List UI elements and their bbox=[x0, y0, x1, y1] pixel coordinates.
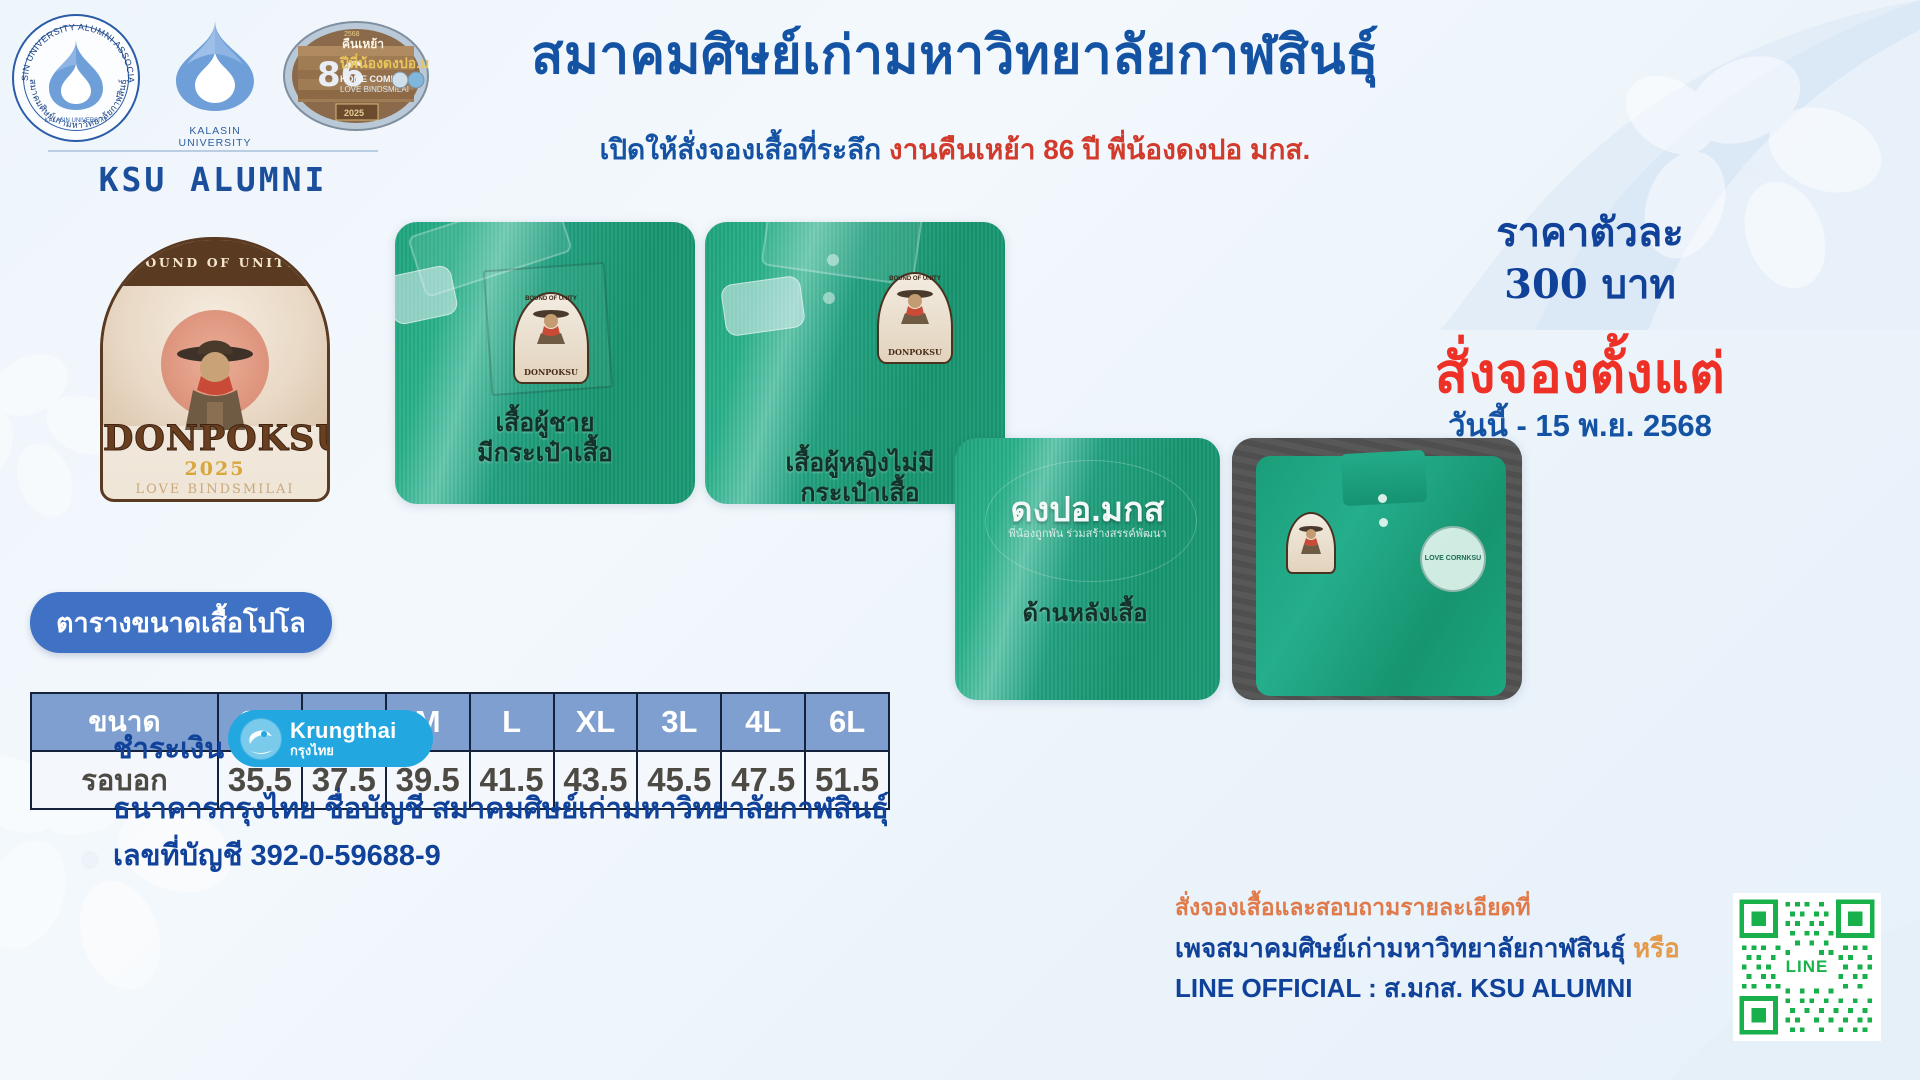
bank-account-name: ธนาคารกรุงไทย ชื่อบัญชี สมาคมศิษย์เก่ามห… bbox=[113, 785, 889, 831]
size-header-6l: 6L bbox=[805, 693, 889, 751]
patch-arc-text: BOUND OF UNITY bbox=[879, 276, 951, 282]
unity-arc-band: BOUND OF UNITY bbox=[103, 240, 327, 286]
back-print-sub: พี่น้องถูกพัน ร่วมสร้างสรรค์พัฒนา bbox=[955, 524, 1220, 542]
unity-shield: BOUND OF UNITY DONPOKSU 2025 LOVE BINDSM… bbox=[100, 237, 330, 502]
patch-cowboy-icon bbox=[879, 282, 951, 324]
contact-line-2: เพจสมาคมศิษย์เก่ามหาวิทยาลัยกาฬสินธุ์ หร… bbox=[1175, 928, 1680, 969]
header-divider bbox=[48, 150, 378, 152]
page-subtitle: เปิดให้สั่งจองเสื้อที่ระลึก งานคืนเหย้า … bbox=[440, 134, 1470, 166]
droplet-icon bbox=[165, 18, 265, 118]
size-header-3l: 3L bbox=[637, 693, 721, 751]
mens-shirt-caption: เสื้อผู้ชาย มีกระเป๋าเสื้อ bbox=[430, 408, 660, 468]
alumni-wordmark: KSU ALUMNI bbox=[48, 160, 378, 199]
homecoming-86-badge: 86 2568 คืนเหย้า ปีพี่น้องดงปอ.มกส HOME … bbox=[282, 20, 430, 132]
size-header-xl: XL bbox=[554, 693, 638, 751]
womens-shirt-caption: เสื้อผู้หญิงไม่มี กระเป๋าเสื้อ bbox=[730, 448, 990, 508]
payment-label: ชำระเงิน bbox=[113, 725, 224, 771]
university-caption: KALASIN UNIVERSITY bbox=[160, 125, 270, 149]
subtitle-blue-text: เปิดให้สั่งจองเสื้อที่ระลึก bbox=[600, 134, 881, 165]
contact-page-name: เพจสมาคมศิษย์เก่ามหาวิทยาลัยกาฬสินธุ์ bbox=[1175, 933, 1626, 963]
qr-line-label: LINE bbox=[1783, 956, 1832, 978]
krungthai-mark-icon bbox=[240, 718, 282, 760]
patch-name: DONPOKSU bbox=[515, 367, 587, 377]
unity-name: DONPOKSU bbox=[103, 418, 327, 459]
kalasin-university-logo: KALASIN UNIVERSITY bbox=[160, 18, 270, 143]
donpoksu-unity-logo: BOUND OF UNITY DONPOKSU 2025 LOVE BINDSM… bbox=[100, 237, 330, 502]
subtitle-red-text: งานคืนเหย้า 86 ปี พี่น้องดงปอ มกส. bbox=[889, 134, 1310, 165]
unity-year: 2025 bbox=[103, 458, 327, 480]
unity-scene bbox=[103, 286, 327, 426]
photo-folded-shirt: LOVE CORNKSU bbox=[1232, 438, 1522, 700]
mens-caption-line2: มีกระเป๋าเสื้อ bbox=[430, 438, 660, 468]
mens-caption-line1: เสื้อผู้ชาย bbox=[430, 408, 660, 438]
size-header-4l: 4L bbox=[721, 693, 805, 751]
krungthai-bank-logo: Krungthai กรุงไทย bbox=[228, 710, 433, 767]
badge-thai-main: ปีพี่น้องดงปอ.มกส bbox=[339, 53, 430, 71]
photo-shirt-back: ดงปอ.มกส พี่น้องถูกพัน ร่วมสร้างสรรค์พัฒ… bbox=[955, 438, 1220, 700]
patch-cowboy-icon bbox=[515, 302, 587, 344]
patch-name: DONPOKSU bbox=[879, 347, 951, 357]
back-caption-text: ด้านหลังเสื้อ bbox=[985, 600, 1185, 629]
alumni-association-seal: KALASIN UNIVERSITY ALUMNI ASSOCIATION สม… bbox=[12, 14, 140, 142]
contact-or-text: หรือ bbox=[1633, 933, 1680, 963]
bank-account-number: เลขที่บัญชี 392-0-59688-9 bbox=[113, 832, 441, 878]
donpoksu-embroidery-patch: BOUND OF UNITY DONPOKSU bbox=[513, 292, 589, 384]
krungthai-name-th: กรุงไทย bbox=[290, 744, 397, 757]
shirt-button bbox=[1379, 518, 1388, 527]
size-table-badge: ตารางขนาดเสื้อโปโล bbox=[30, 592, 332, 653]
unity-arc-text: BOUND OF UNITY bbox=[103, 240, 327, 286]
chest-circle-logo: LOVE CORNKSU bbox=[1420, 526, 1486, 592]
order-date: วันนี้ - 15 พ.ย. 2568 bbox=[1300, 400, 1860, 450]
price-amount: 300 บาท bbox=[1330, 252, 1850, 316]
size-header-l: L bbox=[470, 693, 554, 751]
womens-caption-line1: เสื้อผู้หญิงไม่มี bbox=[730, 448, 990, 478]
sleeve-86-badge bbox=[720, 275, 806, 338]
shirt-button bbox=[1378, 494, 1387, 503]
badge-thai-top: คืนเหย้า bbox=[342, 37, 384, 51]
krungthai-name-en: Krungthai bbox=[290, 720, 397, 742]
donpoksu-embroidery-patch bbox=[1286, 512, 1336, 574]
seal-caption: KALASIN UNIVERSITY bbox=[14, 118, 138, 124]
chest-logo-text: LOVE CORNKSU bbox=[1425, 555, 1481, 563]
ksu-droplet-icon bbox=[41, 38, 111, 112]
header-logos: KALASIN UNIVERSITY ALUMNI ASSOCIATION สม… bbox=[0, 8, 430, 138]
unity-tagline: LOVE BINDSMILAI bbox=[103, 482, 327, 497]
contact-line-3: LINE OFFICIAL : ส.มกส. KSU ALUMNI bbox=[1175, 968, 1633, 1009]
shirt-button bbox=[827, 254, 839, 266]
badge-shape: 86 2568 คืนเหย้า ปีพี่น้องดงปอ.มกส HOME … bbox=[282, 20, 430, 132]
page-title: สมาคมศิษย์เก่ามหาวิทยาลัยกาฬสินธุ์ bbox=[455, 28, 1455, 84]
donpoksu-embroidery-patch: BOUND OF UNITY DONPOKSU bbox=[877, 272, 953, 364]
line-qr-code[interactable]: LINE bbox=[1733, 893, 1881, 1041]
contact-line-1: สั่งจองเสื้อและสอบถามรายละเอียดที่ bbox=[1175, 890, 1531, 926]
shirt-button bbox=[823, 292, 835, 304]
back-shirt-caption: ด้านหลังเสื้อ bbox=[985, 600, 1185, 629]
patch-cowboy-icon bbox=[1288, 520, 1334, 554]
womens-caption-line2: กระเป๋าเสื้อ bbox=[730, 478, 990, 508]
krungthai-text: Krungthai กรุงไทย bbox=[290, 720, 397, 757]
patch-arc-text: BOUND OF UNITY bbox=[515, 296, 587, 302]
badge-bottom-year: 2025 bbox=[344, 108, 364, 118]
